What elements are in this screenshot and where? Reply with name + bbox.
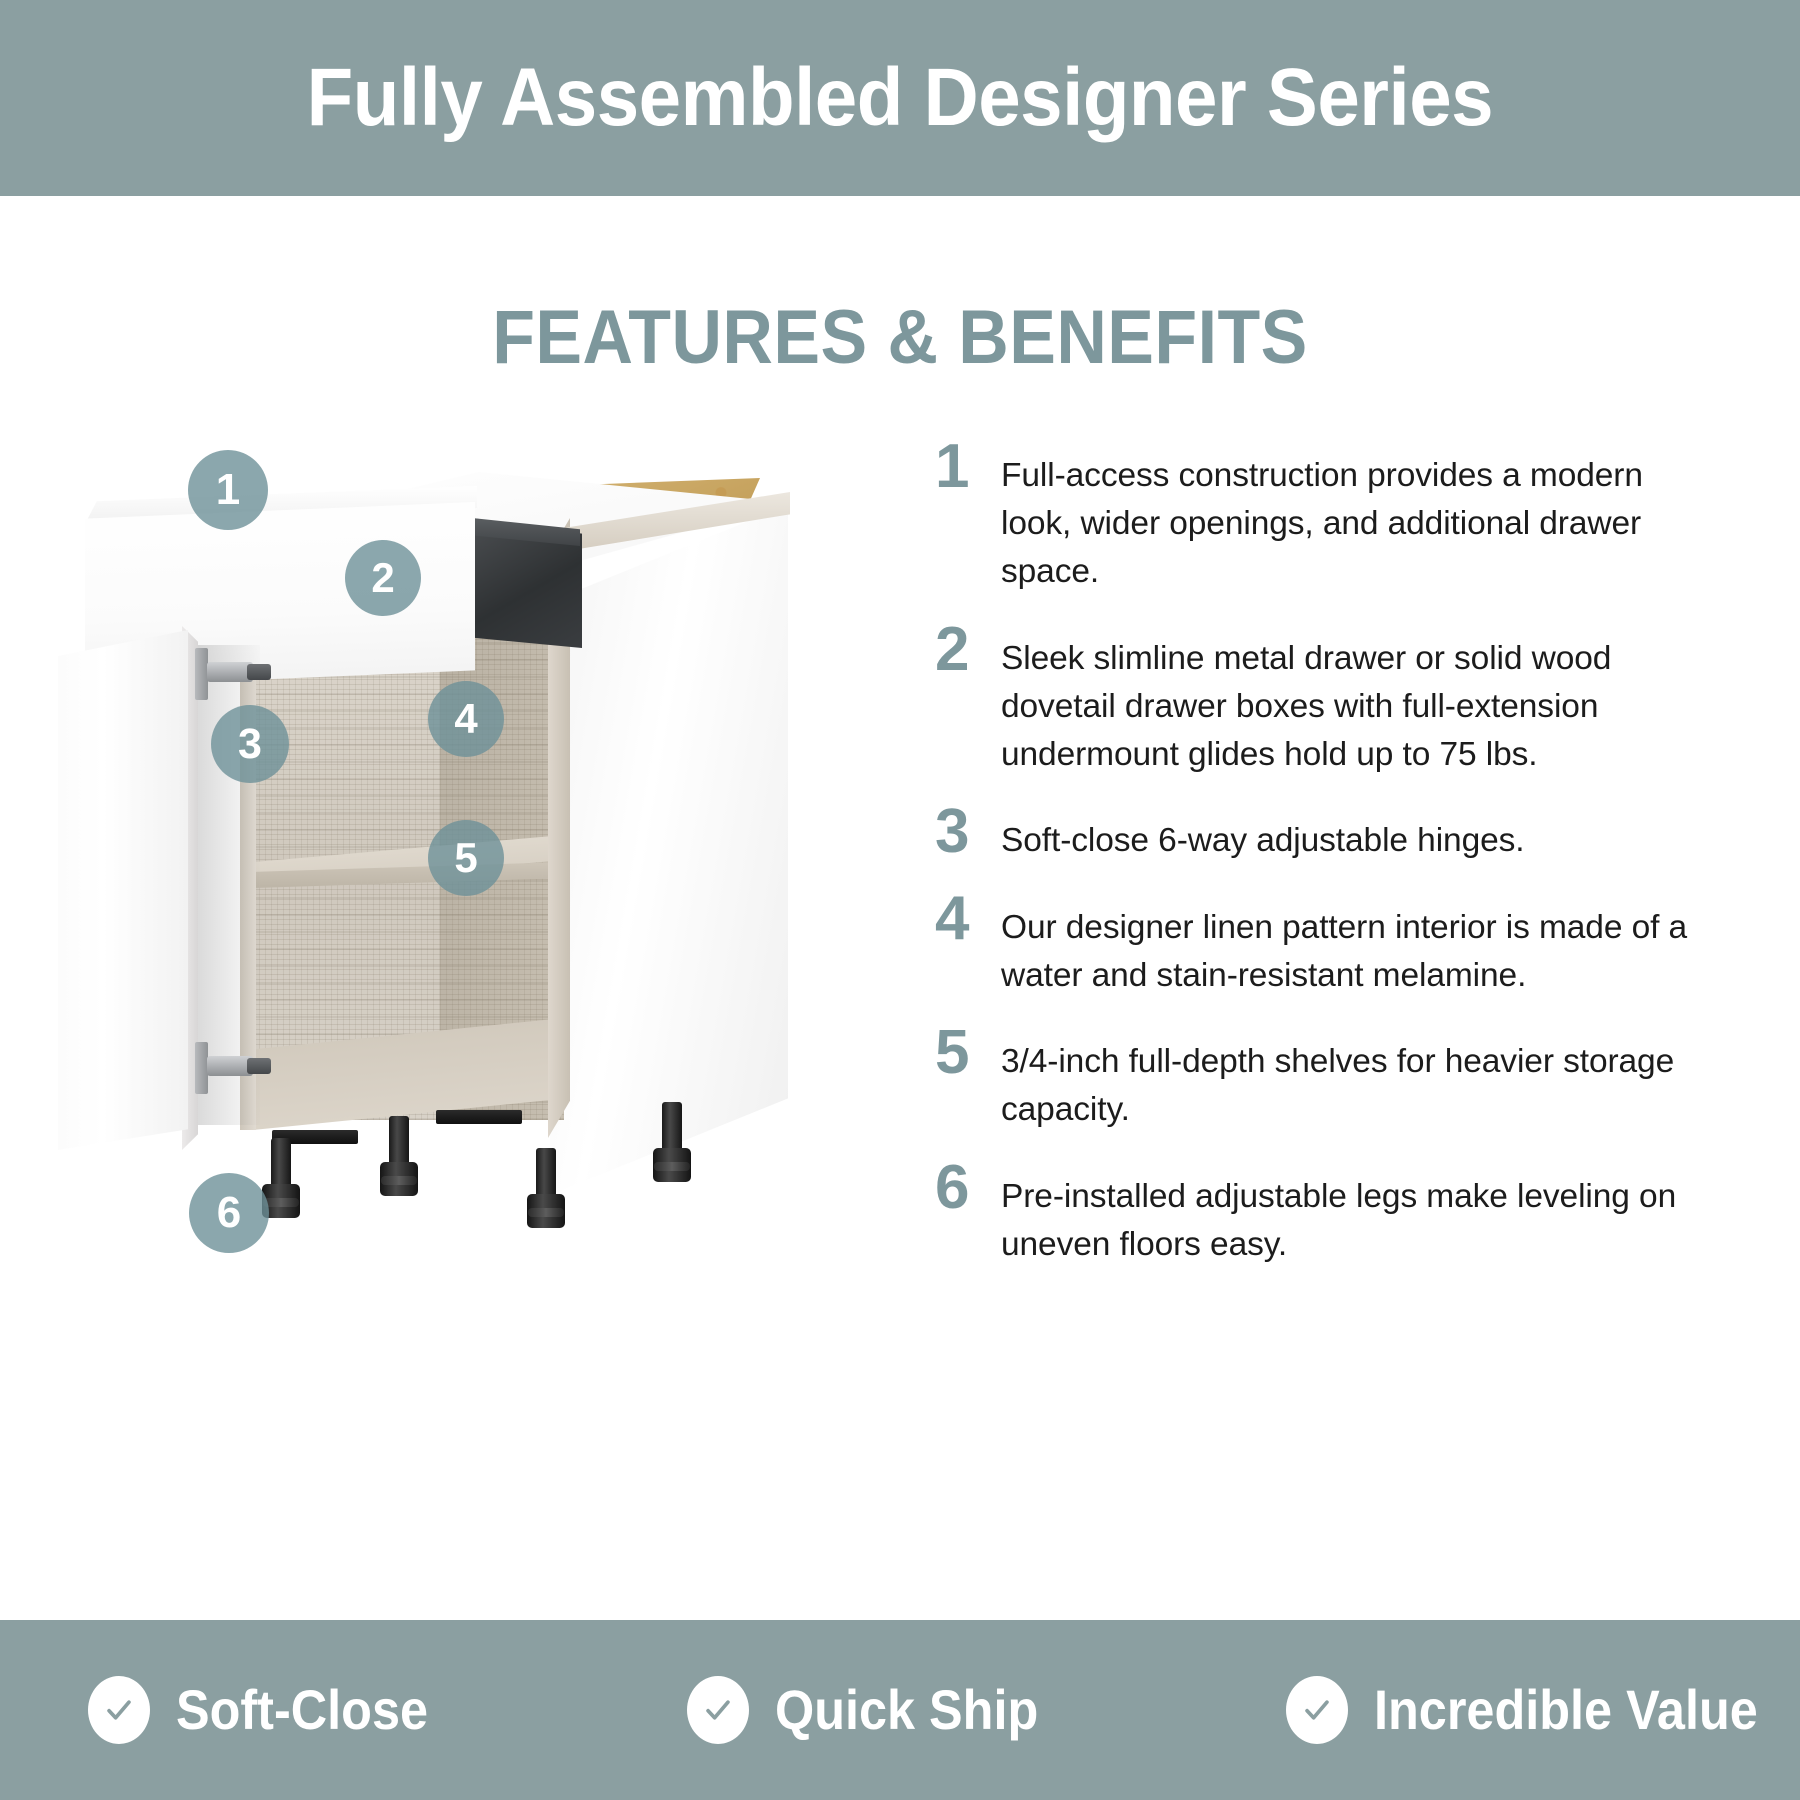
feature-item: 1 Full-access construction provides a mo… (935, 438, 1695, 597)
section-heading: FEATURES & BENEFITS (72, 300, 1728, 376)
hinge-cup (247, 664, 271, 680)
features-list: 1 Full-access construction provides a mo… (935, 438, 1695, 1293)
check-circle-icon (88, 1676, 150, 1744)
leg-post (271, 1138, 291, 1190)
header-bar: Fully Assembled Designer Series (0, 0, 1800, 196)
feature-item: 4 Our designer linen pattern interior is… (935, 890, 1695, 1000)
feature-description: Sleek slimline metal drawer or solid woo… (1001, 621, 1695, 780)
feature-item: 3 Soft-close 6-way adjustable hinges. (935, 803, 1695, 865)
leg-adjustment-ring (654, 1162, 690, 1171)
callout-badge-3: 3 (211, 705, 289, 783)
leg-adjustment-ring (528, 1208, 564, 1217)
footer-benefit-label: Soft-Close (176, 1682, 428, 1738)
cabinet-door-panel (58, 630, 188, 1150)
leg-bracket (436, 1110, 522, 1124)
callout-badge-5: 5 (428, 820, 504, 896)
feature-description: 3/4-inch full-depth shelves for heavier … (1001, 1024, 1695, 1134)
check-circle-icon (687, 1676, 749, 1744)
feature-item: 6 Pre-installed adjustable legs make lev… (935, 1159, 1695, 1269)
footer-benefit-item: Soft-Close (0, 1676, 599, 1744)
feature-number: 4 (935, 890, 1001, 947)
feature-number: 1 (935, 438, 1001, 495)
callout-badge-4: 4 (428, 681, 504, 757)
feature-number: 2 (935, 621, 1001, 678)
feature-description: Full-access construction provides a mode… (1001, 438, 1695, 597)
feature-item: 5 3/4-inch full-depth shelves for heavie… (935, 1024, 1695, 1134)
soft-close-hinge-icon (195, 648, 273, 700)
main-content: 123456 1 Full-access construction provid… (0, 420, 1800, 1580)
leg-post (536, 1148, 556, 1200)
footer-benefit-label: Quick Ship (775, 1682, 1038, 1738)
footer-benefit-item: Quick Ship (599, 1676, 1198, 1744)
callout-badge-1: 1 (188, 450, 268, 530)
footer-benefit-label: Incredible Value (1374, 1682, 1758, 1738)
feature-description: Our designer linen pattern interior is m… (1001, 890, 1695, 1000)
footer-bar: Soft-Close Quick Ship Incredible Value (0, 1620, 1800, 1800)
callout-badge-2: 2 (345, 540, 421, 616)
feature-number: 5 (935, 1024, 1001, 1081)
feature-number: 6 (935, 1159, 1001, 1216)
feature-number: 3 (935, 803, 1001, 860)
leg-post (662, 1102, 682, 1154)
check-circle-icon (1286, 1676, 1348, 1744)
cabinet-right-side-panel (550, 505, 788, 1195)
footer-benefit-item: Incredible Value (1198, 1676, 1800, 1744)
feature-description: Soft-close 6-way adjustable hinges. (1001, 803, 1695, 865)
callout-badge-6: 6 (189, 1173, 269, 1253)
feature-item: 2 Sleek slimline metal drawer or solid w… (935, 621, 1695, 780)
soft-close-hinge-icon (195, 1042, 273, 1094)
hinge-cup (247, 1058, 271, 1074)
leg-adjustment-ring (381, 1176, 417, 1185)
leg-post (389, 1116, 409, 1168)
page-title: Fully Assembled Designer Series (307, 57, 1493, 139)
feature-description: Pre-installed adjustable legs make level… (1001, 1159, 1695, 1269)
